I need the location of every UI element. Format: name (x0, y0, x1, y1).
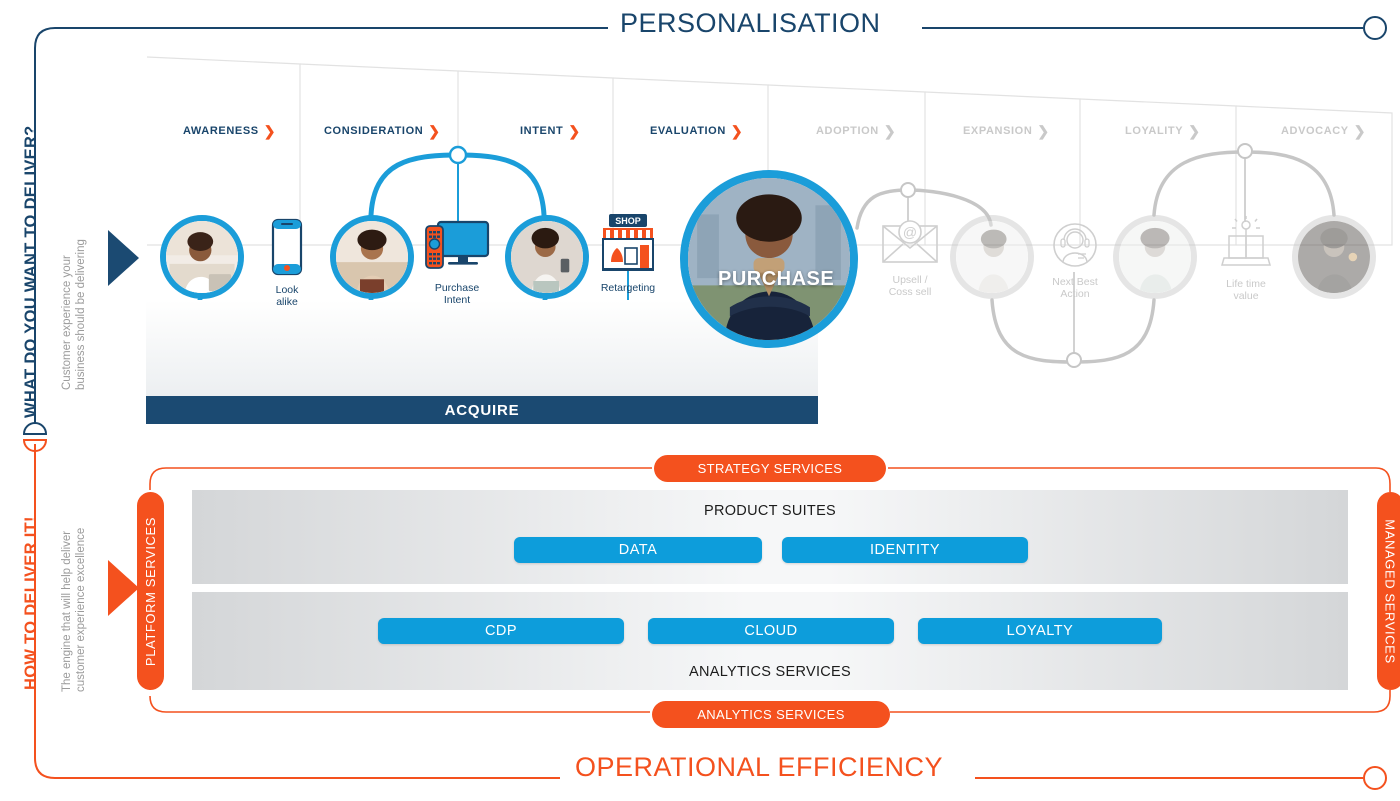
persona-avatar-awareness (160, 215, 244, 299)
laptop-idea-icon (1217, 216, 1275, 270)
chevron-right-icon: ❯ (731, 124, 743, 138)
touchpoint-caption: Upsell / Coss sell (868, 274, 952, 298)
caption-line2: Intent (444, 294, 470, 306)
chevron-right-icon: ❯ (428, 124, 440, 138)
touchpoint-caption: Retargeting (586, 282, 670, 294)
stage-label-evaluation[interactable]: EVALUATION ❯ (650, 124, 743, 138)
chevron-right-icon: ❯ (1037, 124, 1049, 138)
avatar-illustration (336, 221, 408, 293)
shop-storefront-icon: SHOP (597, 212, 659, 274)
svg-text:@: @ (903, 224, 917, 240)
svg-text:SHOP: SHOP (615, 216, 641, 226)
caption-line1: Upsell / (892, 274, 927, 286)
stage-label-advocacy[interactable]: ADVOCACY ❯ (1281, 124, 1366, 138)
agent-headset-icon (1052, 222, 1098, 268)
engine-band-title: PRODUCT SUITES (192, 503, 1348, 519)
rail-subtext-line2: customer experience excellence (74, 528, 88, 692)
rail-subtext-what-to-deliver: Customer experience your business should… (60, 239, 88, 390)
acquire-bar: ACQUIRE (146, 396, 818, 424)
engine-band-product-suites: PRODUCT SUITES (192, 490, 1348, 584)
avatar-illustration (956, 221, 1028, 293)
caption-line1: Retargeting (601, 282, 655, 294)
touchpoint-upsell-cross-sell[interactable]: @ Upsell / Coss sell (868, 218, 952, 298)
caption-line1: Life time (1226, 278, 1266, 290)
stage-label-text: EXPANSION (963, 125, 1032, 137)
engine-band-title: ANALYTICS SERVICES (192, 664, 1348, 680)
caption-line2: value (1233, 290, 1258, 302)
persona-avatar-consideration (330, 215, 414, 299)
rail-label-how-to-deliver: HOW TO DELIVER IT! (22, 516, 41, 690)
avatar-illustration (166, 221, 238, 293)
stage-label-text: AWARENESS (183, 125, 259, 137)
rail-subtext-line1: Customer experience your (60, 239, 74, 390)
chevron-right-icon: ❯ (884, 124, 896, 138)
touchpoint-caption: Purchase Intent (415, 282, 499, 306)
chevron-right-icon: ❯ (1188, 124, 1200, 138)
rail-subtext-how-to-deliver: The engine that will help deliver custom… (60, 528, 88, 692)
engine-pill-managed-services-label: MANAGED SERVICES (1383, 519, 1398, 663)
rail-subtext-line1: The engine that will help deliver (60, 528, 74, 692)
email-envelope-icon: @ (880, 218, 940, 266)
stage-label-adoption[interactable]: ADOPTION ❯ (816, 124, 896, 138)
caption-line1: Look (276, 284, 299, 296)
chevron-right-icon: ❯ (264, 124, 276, 138)
caption-line2: Coss sell (889, 286, 932, 298)
touchpoint-life-time-value[interactable]: Life time value (1204, 216, 1288, 302)
persona-avatar-loyality (1113, 215, 1197, 299)
diagram-canvas: PERSONALISATION OPERATIONAL EFFICIENCY W… (0, 0, 1400, 801)
engine-pill-strategy-services[interactable]: STRATEGY SERVICES (654, 455, 886, 482)
caption-line2: alike (276, 296, 298, 308)
chevron-right-icon: ❯ (1354, 124, 1366, 138)
engine-chip-data[interactable]: DATA (514, 537, 762, 563)
rail-label-what-to-deliver: WHAT DO YOU WANT TO DELIVER? (22, 125, 41, 418)
caption-line2: Action (1060, 288, 1089, 300)
engine-chip-loyalty[interactable]: LOYALTY (918, 618, 1162, 644)
stage-label-text: EVALUATION (650, 125, 726, 137)
avatar-illustration (688, 178, 850, 340)
stage-label-text: CONSIDERATION (324, 125, 423, 137)
engine-chip-identity[interactable]: IDENTITY (782, 537, 1028, 563)
caption-line1: Next Best (1052, 276, 1098, 288)
avatar-illustration (1298, 221, 1370, 293)
stage-label-expansion[interactable]: EXPANSION ❯ (963, 124, 1050, 138)
touchpoint-retargeting[interactable]: SHOP Retargeting (586, 212, 670, 294)
touchpoint-look-alike[interactable]: Look alike (245, 218, 329, 308)
persona-avatar-intent (505, 215, 589, 299)
avatar-illustration (511, 221, 583, 293)
stage-label-text: LOYALITY (1125, 125, 1183, 137)
engine-pill-managed-services[interactable]: MANAGED SERVICES (1377, 492, 1400, 690)
engine-pill-platform-services-label: PLATFORM SERVICES (143, 516, 158, 665)
avatar-illustration (1119, 221, 1191, 293)
page-title-operational-efficiency: OPERATIONAL EFFICIENCY (575, 752, 943, 783)
caption-line1: Purchase (435, 282, 479, 294)
stage-label-loyality[interactable]: LOYALITY ❯ (1125, 124, 1201, 138)
touchpoint-caption: Life time value (1204, 278, 1288, 302)
stage-label-text: ADOPTION (816, 125, 879, 137)
touchpoint-caption: Next Best Action (1033, 276, 1117, 300)
rail-subtext-line2: business should be delivering (74, 239, 88, 390)
stage-label-text: INTENT (520, 125, 563, 137)
touchpoint-next-best-action[interactable]: Next Best Action (1033, 222, 1117, 300)
touchpoint-purchase-intent[interactable]: Purchase Intent (415, 218, 499, 306)
engine-chip-cdp[interactable]: CDP (378, 618, 624, 644)
purchase-badge-label: PURCHASE (718, 268, 834, 291)
mobile-phone-icon (271, 218, 303, 276)
tv-remote-icon (422, 218, 492, 274)
persona-avatar-expansion (950, 215, 1034, 299)
stage-label-awareness[interactable]: AWARENESS ❯ (183, 124, 276, 138)
stage-label-consideration[interactable]: CONSIDERATION ❯ (324, 124, 441, 138)
stage-label-intent[interactable]: INTENT ❯ (520, 124, 581, 138)
touchpoint-caption: Look alike (245, 284, 329, 308)
engine-chip-cloud[interactable]: CLOUD (648, 618, 894, 644)
page-title-personalisation: PERSONALISATION (620, 8, 881, 39)
engine-pill-platform-services[interactable]: PLATFORM SERVICES (137, 492, 164, 690)
engine-pill-analytics-services[interactable]: ANALYTICS SERVICES (652, 701, 890, 728)
persona-avatar-advocacy (1292, 215, 1376, 299)
chevron-right-icon: ❯ (568, 124, 580, 138)
persona-avatar-purchase (680, 170, 858, 348)
stage-label-text: ADVOCACY (1281, 125, 1349, 137)
